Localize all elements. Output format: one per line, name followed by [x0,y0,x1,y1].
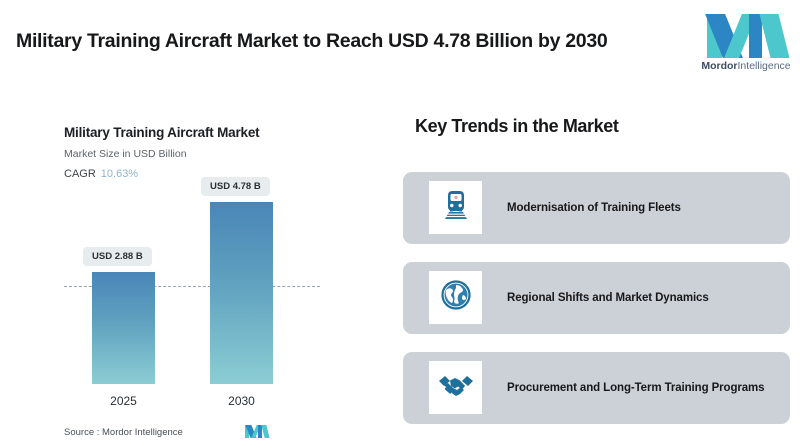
logo-word-intelligence: Intelligence [738,60,791,72]
trend-card-modernisation[interactable]: Modernisation of Training Fleets [403,172,790,244]
source-logo-icon [245,425,267,438]
bar-2025 [92,272,155,384]
chart-title: Military Training Aircraft Market [64,125,259,140]
logo-mark-icon [703,14,789,58]
icon-box [429,271,482,324]
trend-card-label: Regional Shifts and Market Dynamics [507,262,709,334]
trends-heading: Key Trends in the Market [415,116,618,137]
trend-card-procurement[interactable]: Procurement and Long-Term Training Progr… [403,352,790,424]
trend-card-regional-shifts[interactable]: Regional Shifts and Market Dynamics [403,262,790,334]
header: Military Training Aircraft Market to Rea… [0,0,800,92]
plot-area: USD 2.88 B USD 4.78 B 2025 2030 [64,172,320,412]
bar-2030 [210,202,273,384]
source-logo-segment-5 [261,425,269,438]
key-trends-panel: Key Trends in the Market [390,100,800,448]
logo-word-mordor: Mordor [701,60,737,72]
logo-wordmark: MordorIntelligence [700,60,792,72]
bar-value-label-2030: USD 4.78 B [201,177,270,196]
chart-source: Source : Mordor Intelligence [64,427,183,438]
icon-box [429,361,482,414]
x-axis-label-2025: 2025 [92,394,155,408]
logo-segment-4 [749,14,762,58]
x-axis-label-2030: 2030 [210,394,273,408]
trend-card-label: Modernisation of Training Fleets [507,172,681,244]
mordor-intelligence-logo: MordorIntelligence [700,14,792,80]
train-icon [439,188,473,227]
icon-box [429,181,482,234]
trend-card-label: Procurement and Long-Term Training Progr… [507,352,764,424]
chart-subtitle: Market Size in USD Billion [64,148,187,160]
globe-icon [439,278,473,317]
bar-value-label-2025: USD 2.88 B [83,247,152,266]
page-title: Military Training Aircraft Market to Rea… [16,28,676,54]
market-size-chart: Military Training Aircraft Market Market… [0,100,390,448]
logo-segment-5 [760,14,790,58]
handshake-icon [438,370,474,405]
